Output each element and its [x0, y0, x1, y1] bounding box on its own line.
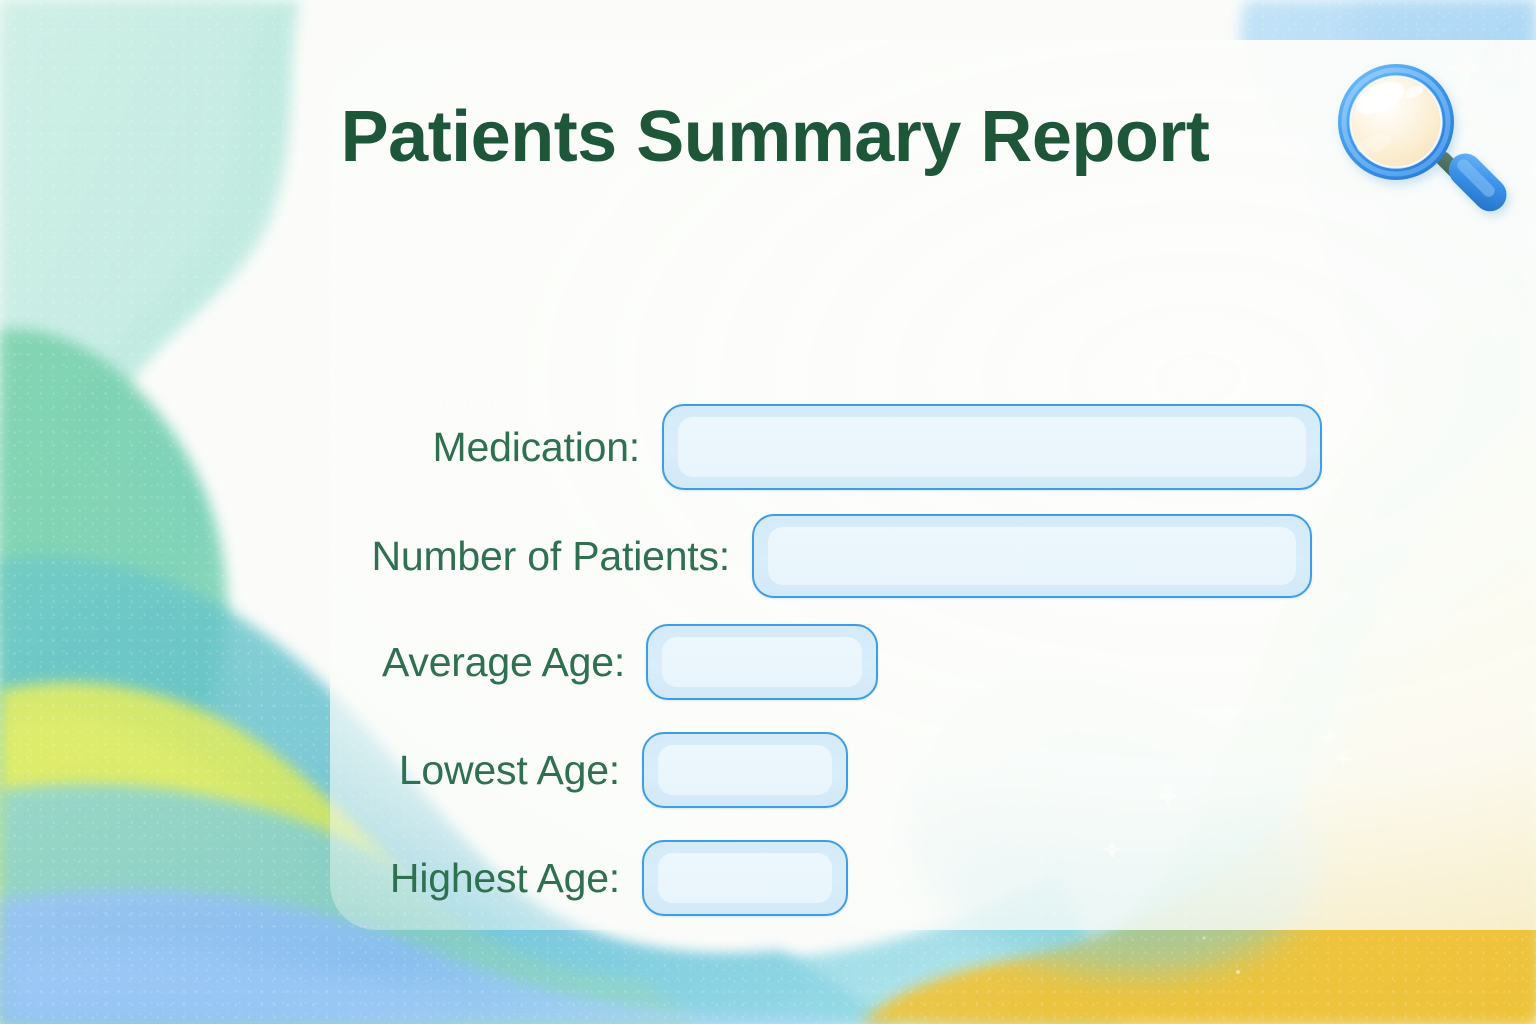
input-lowest-age[interactable]: [642, 732, 848, 808]
label-medication: Medication:: [400, 427, 662, 468]
report-page: Patients Summary Report: [0, 0, 1536, 1024]
form-row-lowest-age: Lowest Age:: [380, 732, 848, 808]
form-row-average-age: Average Age:: [382, 624, 878, 700]
label-lowest-age: Lowest Age:: [380, 750, 642, 791]
form-row-highest-age: Highest Age:: [372, 840, 848, 916]
input-average-age[interactable]: [646, 624, 878, 700]
magnifying-glass-icon: [1330, 58, 1520, 248]
form-row-medication: Medication:: [400, 404, 1322, 490]
input-highest-age[interactable]: [642, 840, 848, 916]
label-number-of-patients: Number of Patients:: [342, 536, 752, 577]
label-highest-age: Highest Age:: [372, 858, 642, 899]
input-number-of-patients[interactable]: [752, 514, 1312, 598]
form-row-number-of-patients: Number of Patients:: [342, 514, 1312, 598]
page-title: Patients Summary Report: [310, 100, 1240, 176]
input-medication[interactable]: [662, 404, 1322, 490]
label-average-age: Average Age:: [382, 642, 646, 683]
